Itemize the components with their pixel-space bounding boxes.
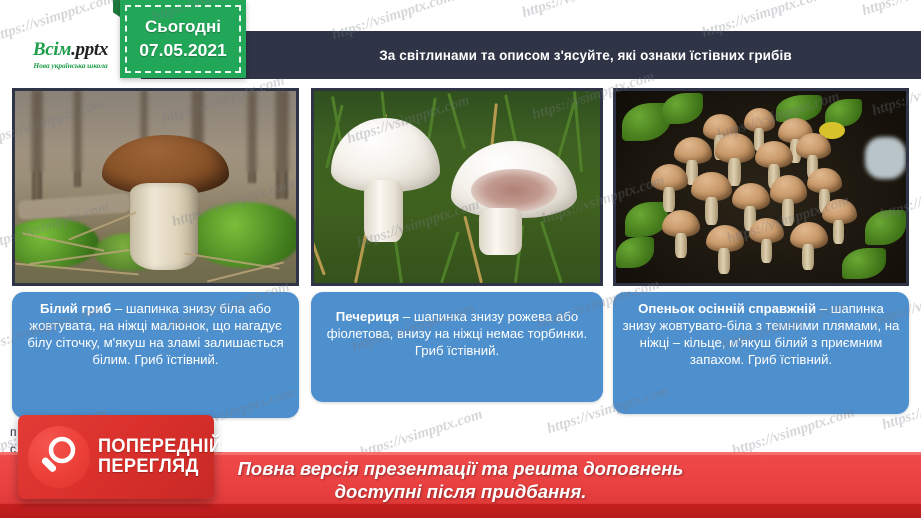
page-title: За світлинами та описом з'ясуйте, які оз… bbox=[250, 31, 921, 79]
date-badge: Сьогодні 07.05.2021 bbox=[120, 0, 246, 78]
preview-badge-text: ПОПЕРЕДНІЙ ПЕРЕГЛЯД bbox=[98, 437, 232, 477]
caption-title: Опеньок осінній справжній bbox=[638, 301, 816, 316]
date-badge-label: Сьогодні bbox=[145, 17, 221, 37]
caption-dash: – bbox=[111, 301, 126, 316]
caption-title: Білий гриб bbox=[40, 301, 111, 316]
photo-champignons bbox=[311, 88, 603, 286]
logo-text-primary: Всім bbox=[33, 39, 71, 60]
photo-row bbox=[0, 88, 921, 288]
caption-dash: – bbox=[816, 301, 831, 316]
slide-canvas: Білий гриб – шапинка знизу біла або жовт… bbox=[0, 0, 921, 518]
logo-tagline: Нова українська школа bbox=[33, 61, 107, 70]
photo-honey-fungus bbox=[613, 88, 909, 286]
logo-text: Всім.pptx bbox=[33, 40, 108, 59]
caption-champignon: Печериця – шапинка знизу рожева або фіол… bbox=[311, 292, 603, 402]
caption-row: Білий гриб – шапинка знизу біла або жовт… bbox=[0, 292, 921, 420]
watermark-text: https://vsimpptx.com bbox=[860, 0, 921, 20]
preview-badge[interactable]: ПОПЕРЕДНІЙ ПЕРЕГЛЯД bbox=[18, 415, 214, 499]
logo-text-secondary: pptx bbox=[76, 39, 109, 60]
purchase-banner-line-2: доступні після придбання. bbox=[335, 481, 587, 504]
caption-white-mushroom: Білий гриб – шапинка знизу біла або жовт… bbox=[12, 292, 299, 418]
watermark-text: https://vsimpptx.com bbox=[520, 0, 647, 22]
caption-dash: – bbox=[399, 309, 414, 324]
purchase-banner-line-1: Повна версія презентації та решта доповн… bbox=[238, 458, 684, 481]
date-badge-value: 07.05.2021 bbox=[139, 40, 227, 61]
caption-honey-fungus: Опеньок осінній справжній – шапинка зниз… bbox=[613, 292, 909, 414]
magnifier-icon bbox=[28, 426, 90, 488]
photo-white-mushroom bbox=[12, 88, 299, 286]
caption-title: Печериця bbox=[336, 309, 399, 324]
preview-badge-line-2: ПЕРЕГЛЯД bbox=[98, 457, 222, 477]
